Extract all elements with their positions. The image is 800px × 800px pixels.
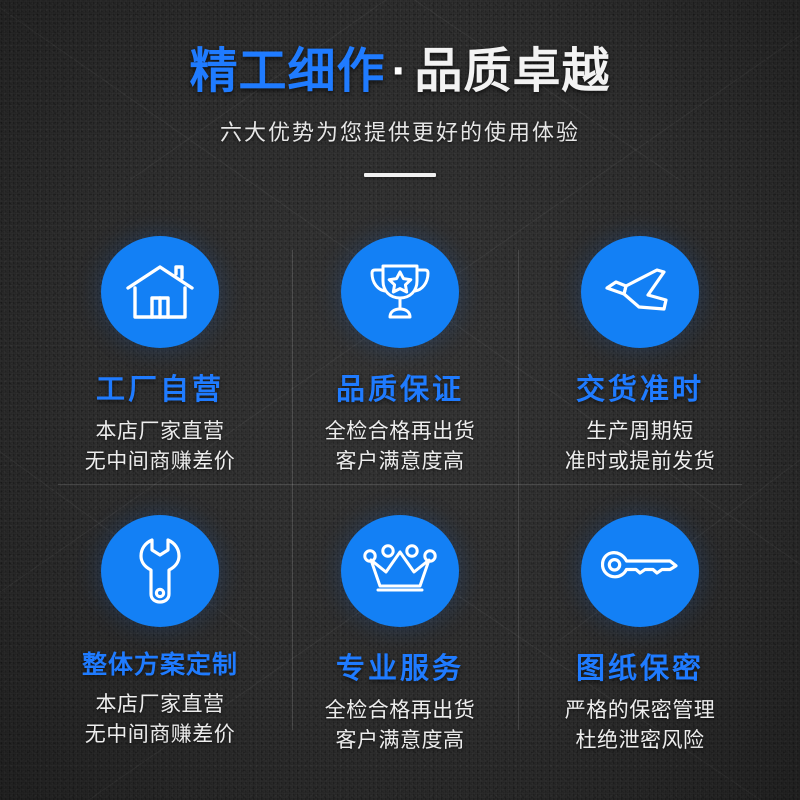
feature-description-line2: 杜绝泄密风险: [565, 726, 716, 756]
icon-badge: [341, 515, 459, 627]
feature-description: 生产周期短 准时或提前发货: [565, 417, 716, 477]
page-title: 精工细作·品质卓越: [0, 44, 800, 101]
feature-title: 品质保证: [336, 366, 464, 408]
feature-description-line2: 无中间商赚差价: [85, 720, 236, 750]
feature-description-line1: 本店厂家直营: [85, 417, 236, 447]
feature-card-customization[interactable]: 整体方案定制 本店厂家直营 无中间商赚差价: [40, 493, 280, 758]
feature-description-line2: 准时或提前发货: [565, 447, 716, 477]
feature-description: 本店厂家直营 无中间商赚差价: [85, 417, 236, 477]
feature-card-service[interactable]: 专业服务 全检合格再出货 客户满意度高: [280, 493, 520, 758]
feature-description-line1: 生产周期短: [565, 417, 716, 447]
crown-icon: [362, 543, 438, 599]
feature-description-line1: 本店厂家直营: [85, 690, 236, 720]
icon-badge: [101, 515, 219, 627]
header: 精工细作·品质卓越 六大优势为您提供更好的使用体验: [0, 44, 800, 177]
feature-description: 全检合格再出货 客户满意度高: [325, 696, 476, 756]
feature-card-delivery[interactable]: 交货准时 生产周期短 准时或提前发货: [520, 228, 760, 493]
feature-description-line2: 客户满意度高: [325, 447, 476, 477]
feature-title: 图纸保密: [576, 645, 704, 687]
feature-title: 交货准时: [576, 366, 704, 408]
icon-badge: [101, 236, 219, 348]
feature-title: 专业服务: [336, 645, 464, 687]
feature-card-confidentiality[interactable]: 图纸保密 严格的保密管理 杜绝泄密风险: [520, 493, 760, 758]
icon-badge: [581, 515, 699, 627]
feature-card-quality[interactable]: 品质保证 全检合格再出货 客户满意度高: [280, 228, 520, 493]
feature-description-line2: 无中间商赚差价: [85, 447, 236, 477]
feature-description: 全检合格再出货 客户满意度高: [325, 417, 476, 477]
key-icon: [601, 549, 679, 593]
page-title-blue: 精工细作: [189, 45, 385, 98]
feature-description: 本店厂家直营 无中间商赚差价: [85, 690, 236, 750]
feature-grid: 工厂自营 本店厂家直营 无中间商赚差价: [40, 228, 760, 758]
feature-card-factory[interactable]: 工厂自营 本店厂家直营 无中间商赚差价: [40, 228, 280, 493]
airplane-icon: [600, 264, 680, 320]
page-title-separator-dot: ·: [386, 45, 415, 98]
feature-description-line2: 客户满意度高: [325, 726, 476, 756]
feature-description-line1: 严格的保密管理: [565, 696, 716, 726]
feature-description-line1: 全检合格再出货: [325, 696, 476, 726]
page-subtitle: 六大优势为您提供更好的使用体验: [0, 115, 800, 147]
header-divider: [364, 173, 436, 177]
house-icon: [124, 262, 196, 322]
promo-banner: 精工细作·品质卓越 六大优势为您提供更好的使用体验 工: [0, 0, 800, 800]
page-title-white: 品质卓越: [414, 45, 610, 98]
wrench-icon: [138, 536, 182, 606]
trophy-icon: [367, 259, 433, 325]
icon-badge: [581, 236, 699, 348]
feature-title: 整体方案定制: [82, 645, 238, 681]
feature-description-line1: 全检合格再出货: [325, 417, 476, 447]
icon-badge: [341, 236, 459, 348]
feature-title: 工厂自营: [96, 366, 224, 408]
feature-description: 严格的保密管理 杜绝泄密风险: [565, 696, 716, 756]
